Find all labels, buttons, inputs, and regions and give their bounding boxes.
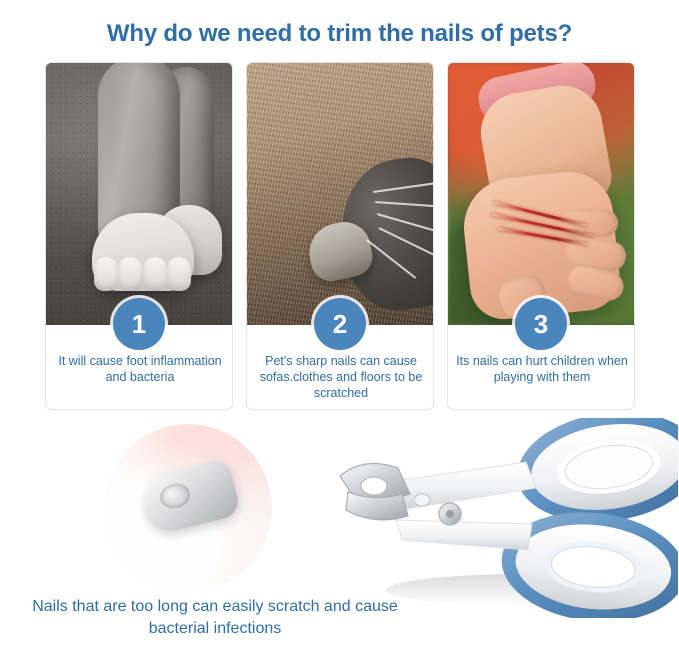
benefit-cards-row: 1 It will cause foot inflammation and ba…	[45, 62, 635, 410]
benefit-caption-3: Its nails can hurt children when playing…	[448, 353, 635, 385]
trimming-cat-nail-photo	[104, 424, 272, 592]
bottom-caption: Nails that are too long can easily scrat…	[0, 596, 430, 640]
step-badge-3: 3	[515, 298, 567, 350]
scratched-child-hand-photo	[448, 63, 635, 325]
benefit-caption-1: It will cause foot inflammation and bact…	[46, 353, 233, 385]
page-title: Why do we need to trim the nails of pets…	[0, 20, 679, 48]
benefit-caption-2: Pet's sharp nails can cause sofas.clothe…	[247, 353, 434, 401]
benefit-card-3: 3 Its nails can hurt children when playi…	[447, 62, 635, 410]
benefit-card-1: 1 It will cause foot inflammation and ba…	[45, 62, 233, 410]
pet-nail-clipper-illustration	[330, 418, 678, 618]
step-badge-2: 2	[314, 298, 366, 350]
step-badge-1: 1	[113, 298, 165, 350]
cat-clawing-sofa-photo	[247, 63, 434, 325]
cat-paw-on-carpet-photo	[46, 63, 233, 325]
benefit-card-2: 2 Pet's sharp nails can cause sofas.clot…	[246, 62, 434, 410]
